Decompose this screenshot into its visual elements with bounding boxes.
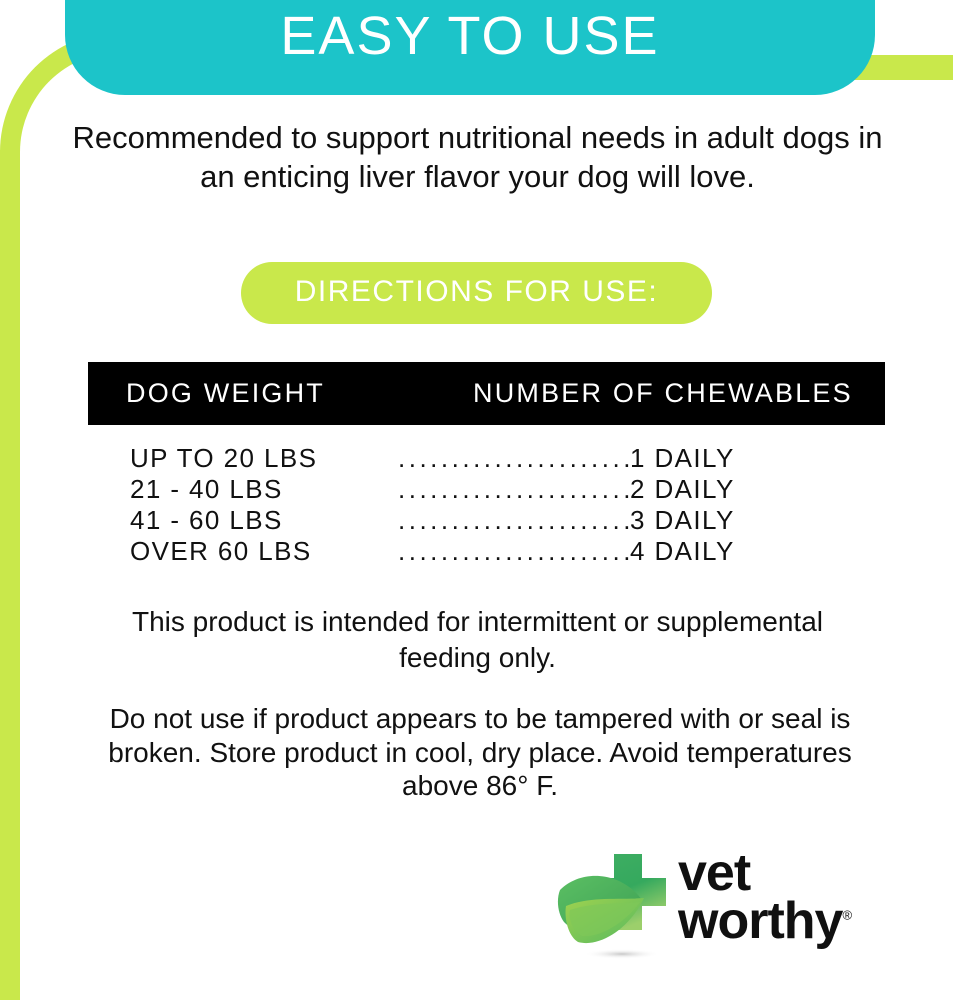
column-header-dog-weight: DOG WEIGHT xyxy=(126,378,325,409)
dosage-table-rows: UP TO 20 LBS ...................... 1 DA… xyxy=(130,443,790,567)
cell-dog-weight: 21 - 40 LBS xyxy=(130,474,398,505)
directions-pill-wrapper: DIRECTIONS FOR USE: xyxy=(0,262,953,324)
cell-leader-dots: ...................... xyxy=(398,474,630,505)
cell-chewable-count: 2 DAILY xyxy=(630,474,735,505)
logo-line-vet: vet xyxy=(678,850,898,898)
logo-worthy-text: worthy xyxy=(678,892,842,950)
green-cross-with-leaf-icon xyxy=(556,848,686,963)
cell-dog-weight: UP TO 20 LBS xyxy=(130,443,398,474)
registered-trademark-icon: ® xyxy=(842,908,852,923)
brand-logo-wordmark: vet worthy® xyxy=(678,850,898,946)
intro-paragraph: Recommended to support nutritional needs… xyxy=(55,118,900,196)
brand-logo: vet worthy® xyxy=(556,848,896,968)
cell-leader-dots: ...................... xyxy=(398,443,630,474)
cell-dog-weight: 41 - 60 LBS xyxy=(130,505,398,536)
storage-warning-note: Do not use if product appears to be tamp… xyxy=(85,702,875,803)
cell-leader-dots: ...................... xyxy=(398,536,630,567)
table-row: UP TO 20 LBS ...................... 1 DA… xyxy=(130,443,790,474)
cell-chewable-count: 3 DAILY xyxy=(630,505,735,536)
cell-chewable-count: 1 DAILY xyxy=(630,443,735,474)
dosage-table-header: DOG WEIGHT NUMBER OF CHEWABLES xyxy=(88,362,885,425)
table-row: 41 - 60 LBS ...................... 3 DAI… xyxy=(130,505,790,536)
table-row: 21 - 40 LBS ...................... 2 DAI… xyxy=(130,474,790,505)
cell-dog-weight: OVER 60 LBS xyxy=(130,536,398,567)
column-header-number-of-chewables: NUMBER OF CHEWABLES xyxy=(473,378,853,409)
table-row: OVER 60 LBS ...................... 4 DAI… xyxy=(130,536,790,567)
intermittent-feeding-note: This product is intended for intermitten… xyxy=(90,604,865,676)
banner-title: EASY TO USE xyxy=(280,9,659,95)
product-label-page: EASY TO USE Recommended to support nutri… xyxy=(0,0,953,1000)
cell-chewable-count: 4 DAILY xyxy=(630,536,735,567)
cell-leader-dots: ...................... xyxy=(398,505,630,536)
logo-line-worthy: worthy® xyxy=(678,898,898,946)
header-banner: EASY TO USE xyxy=(65,0,875,95)
directions-for-use-pill: DIRECTIONS FOR USE: xyxy=(241,262,713,324)
